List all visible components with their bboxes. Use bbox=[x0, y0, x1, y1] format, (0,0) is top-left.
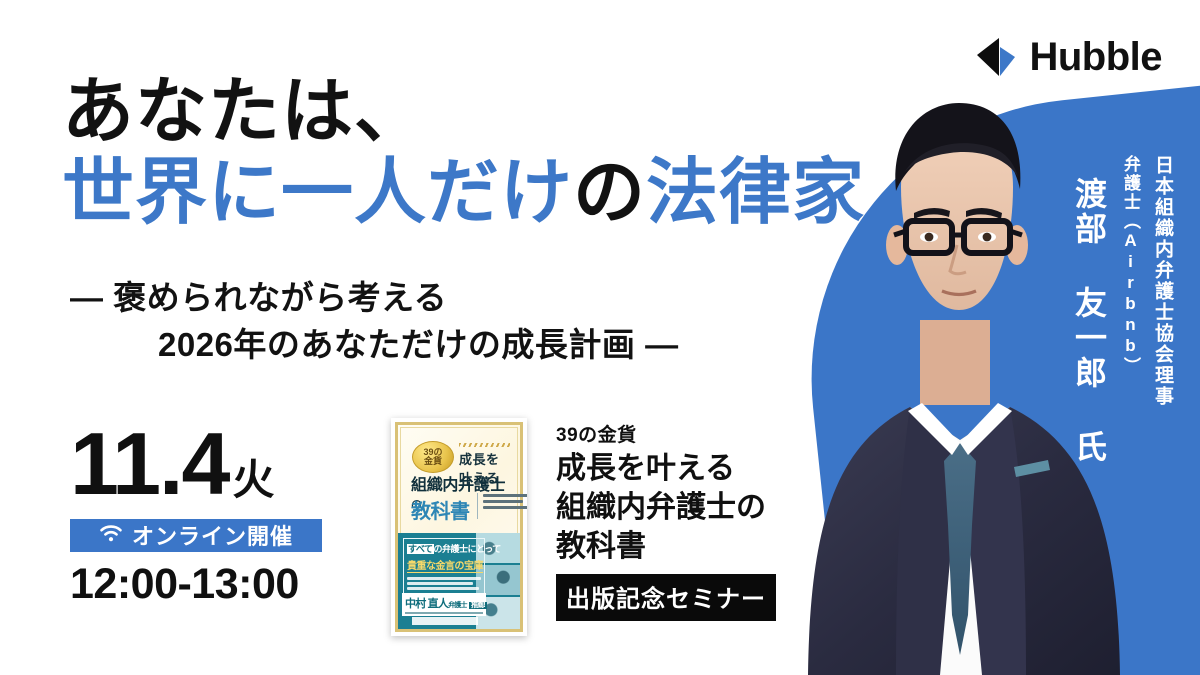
event-date-block: 11.4 火 オンライン開催 12:00-13:00 bbox=[70, 424, 338, 606]
speaker-role: 弁護士（Airbnb） bbox=[1118, 155, 1143, 376]
book-cover-coin-line-2: 金貨 bbox=[424, 457, 442, 466]
book-cover-recommender-subline bbox=[405, 612, 483, 614]
book-cover-obi-band: すべての弁護士にとって 貴重な金言の宝庫 中村 直人弁護士 推薦! bbox=[398, 533, 520, 629]
book-cover-dashed-rule bbox=[459, 443, 510, 447]
seminar-banner: 日本組織内弁護士協会理事 弁護士（Airbnb） 渡部 友一郎 氏 Hubble… bbox=[0, 0, 1200, 675]
book-cover-publisher-line bbox=[412, 617, 478, 625]
hubble-mark-icon bbox=[973, 34, 1019, 80]
book-cover-coin-badge: 39の 金貨 bbox=[412, 441, 454, 473]
headline: あなたは、 世界に一人だけの法律家 bbox=[62, 72, 865, 233]
online-format-badge: オンライン開催 bbox=[70, 519, 322, 552]
speaker-info: 日本組織内弁護士協会理事 弁護士（Airbnb） 渡部 友一郎 氏 bbox=[1066, 155, 1176, 465]
book-cover-recommender: 中村 直人弁護士 推薦! bbox=[402, 593, 486, 616]
headline-line-2: 世界に一人だけの法律家 bbox=[62, 153, 865, 234]
book-cover-obi-quote: すべての弁護士にとって 貴重な金言の宝庫 bbox=[403, 538, 485, 597]
book-title-line-1: 成長を叶える bbox=[556, 449, 786, 488]
book-cover-obi-quote-strong: すべて bbox=[407, 544, 434, 554]
subheadline-line-1: — 褒められながら考える bbox=[70, 275, 679, 322]
book-cover-recommender-name: 中村 直人 bbox=[405, 598, 448, 610]
book-cover-obi-quote-line-1: すべての弁護士にとって bbox=[407, 542, 482, 555]
event-time: 12:00-13:00 bbox=[70, 563, 338, 606]
book-cover-obi-quote-rest: の弁護士にとって bbox=[434, 544, 501, 554]
book-info: 39の金貨 成長を叶える 組織内弁護士の 教科書 出版記念セミナー bbox=[556, 424, 786, 621]
book-series: 39の金貨 bbox=[556, 424, 786, 449]
hubble-wordmark: Hubble bbox=[1029, 37, 1162, 77]
headline-line-1: あなたは、 bbox=[62, 72, 865, 153]
speaker-organization: 日本組織内弁護士協会理事 bbox=[1149, 155, 1176, 407]
subheadline-line-2: 2026年のあなただけの成長計画 — bbox=[70, 322, 679, 369]
book-cover-title-line-2-main: 組織内弁護士 bbox=[411, 477, 505, 494]
book-title-line-2: 組織内弁護士の bbox=[556, 488, 786, 527]
book-title-line-3: 教科書 bbox=[556, 527, 786, 566]
subheadline: — 褒められながら考える 2026年のあなただけの成長計画 — bbox=[70, 275, 679, 369]
book-cover-image: 39の 金貨 成長を叶える 組織内弁護士の 教科書 すべての弁護士にとって 貴重… bbox=[391, 418, 527, 636]
book-cover-obi-quote-line-2: 貴重な金言の宝庫 bbox=[407, 557, 483, 573]
book-cover-obi-body-lines bbox=[407, 577, 482, 590]
book-cover-recommender-suffix: 弁護士 bbox=[448, 602, 467, 609]
event-date: 11.4 bbox=[70, 424, 228, 505]
headline-line2-part-c: 法律家 bbox=[646, 153, 865, 233]
book-cover-divider bbox=[477, 493, 478, 519]
book-cover-recommend-badge: 推薦! bbox=[469, 602, 487, 609]
headline-line2-part-a: 世界に一人だけ bbox=[62, 153, 573, 233]
headline-line2-part-b: の bbox=[573, 153, 646, 233]
book-cover-recommender-line: 中村 直人弁護士 推薦! bbox=[405, 595, 483, 611]
event-date-row: 11.4 火 bbox=[70, 424, 338, 505]
book-cover-title-area: 39の 金貨 成長を叶える 組織内弁護士の 教科書 bbox=[407, 435, 512, 543]
speaker-name: 渡部 友一郎 氏 bbox=[1066, 177, 1112, 465]
book-cover-title-line-3: 教科書 bbox=[411, 495, 470, 524]
hubble-logo[interactable]: Hubble bbox=[973, 34, 1162, 80]
online-format-label: オンライン開催 bbox=[132, 519, 293, 551]
seminar-badge: 出版記念セミナー bbox=[556, 574, 776, 621]
book-cover-author-lines bbox=[483, 494, 527, 512]
wifi-icon bbox=[99, 522, 123, 548]
event-day-of-week: 火 bbox=[232, 459, 274, 505]
book-cover-frame: 39の 金貨 成長を叶える 組織内弁護士の 教科書 すべての弁護士にとって 貴重… bbox=[395, 422, 523, 632]
